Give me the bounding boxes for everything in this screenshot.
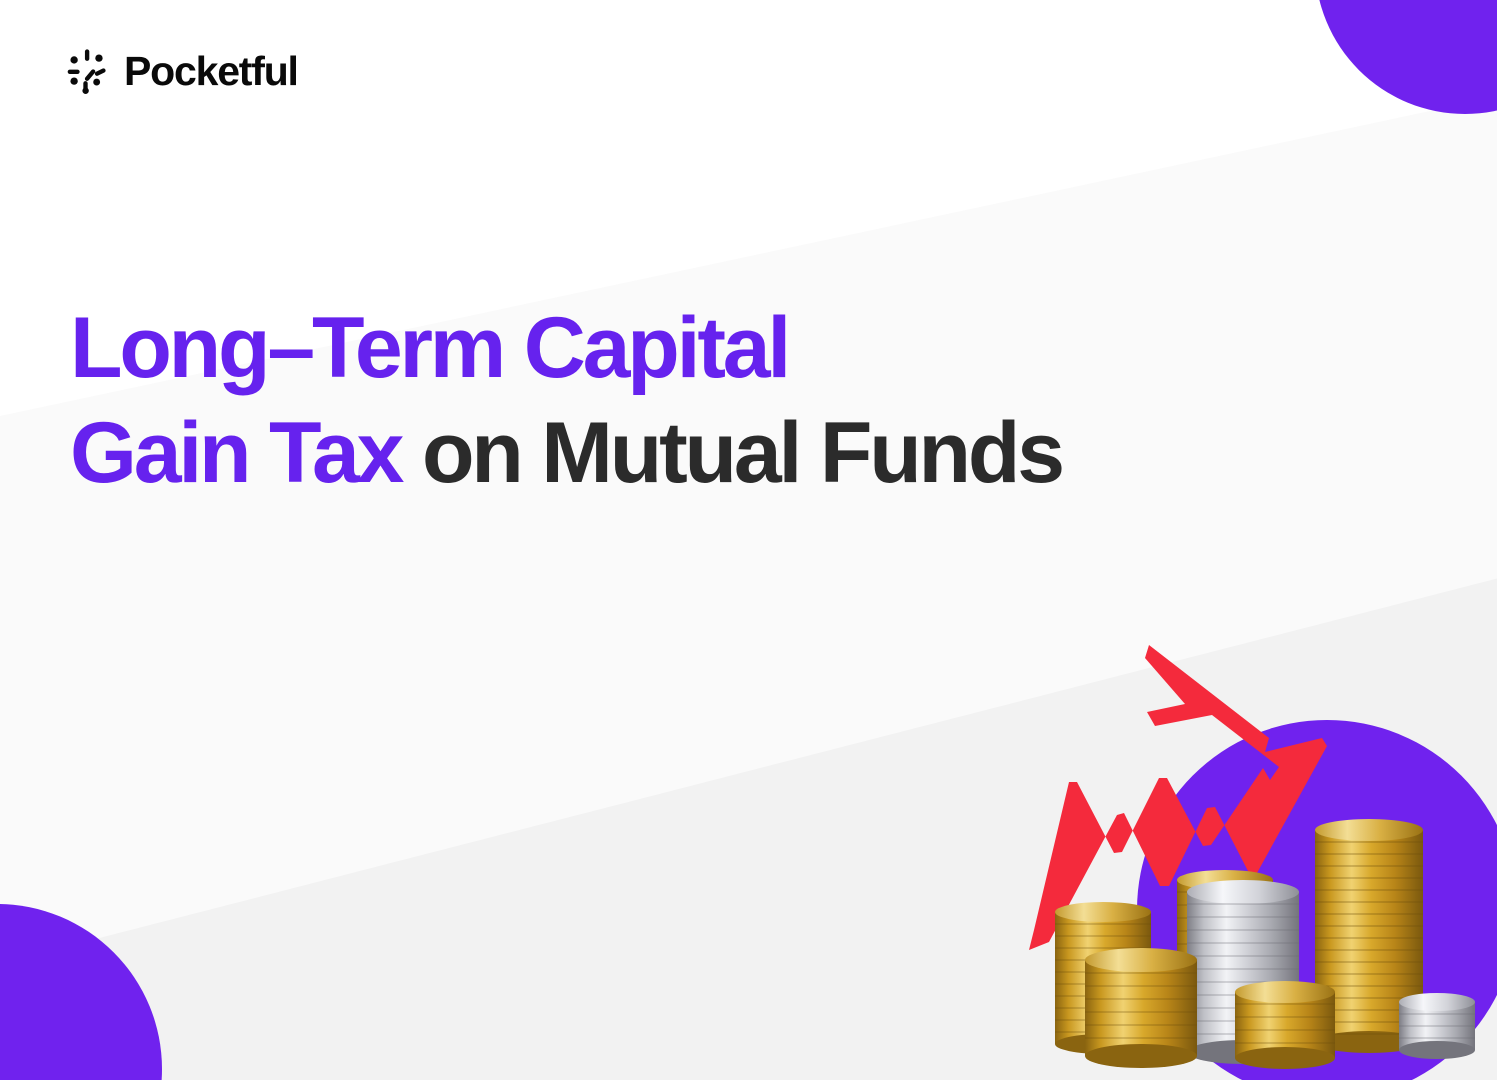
silver-stack-right-low	[1399, 993, 1475, 1059]
brand-name: Pocketful	[124, 51, 298, 92]
headline-line-2-accent: Gain Tax	[70, 405, 401, 501]
headline-line-2-dark: on Mutual Funds	[401, 405, 1062, 501]
gold-stack-center-front	[1235, 981, 1335, 1069]
headline-line-2: Gain Tax on Mutual Funds	[70, 401, 1180, 506]
decorative-circle-top-right	[1315, 0, 1497, 114]
growth-arrow-with-coin-stacks	[1027, 630, 1497, 1080]
banner-canvas: Pocketful Long–Term Capital Gain Tax on …	[0, 0, 1497, 1080]
brand-logo[interactable]: Pocketful	[64, 48, 298, 94]
headline-line-1-accent: Long–Term Capital	[70, 300, 788, 396]
gold-stack-left-front	[1085, 948, 1197, 1068]
headline-line-1: Long–Term Capital	[70, 296, 1180, 401]
page-title: Long–Term Capital Gain Tax on Mutual Fun…	[70, 296, 1180, 506]
pocketful-circular-dots-logo-icon	[64, 48, 110, 94]
